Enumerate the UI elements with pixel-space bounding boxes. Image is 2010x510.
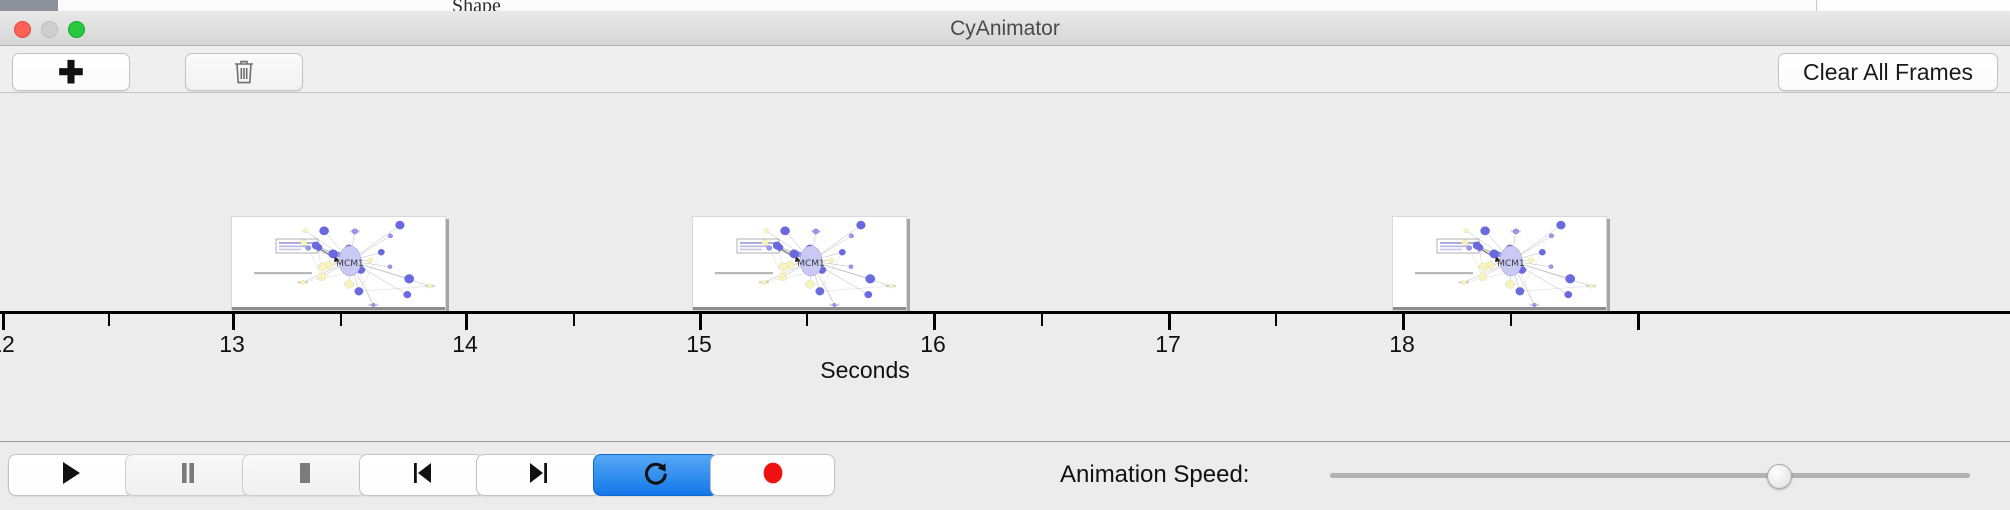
cyanimator-window: Shape CyAnimator ✚ <box>0 0 2010 510</box>
title-bar: CyAnimator <box>0 11 2010 46</box>
ruler-tick <box>1041 314 1043 326</box>
play-icon <box>58 459 84 492</box>
clear-all-frames-button[interactable]: Clear All Frames <box>1778 53 1998 91</box>
timeline-panel: MCM1MCM1MCM1 12131415161718 Seconds <box>0 93 2010 415</box>
add-frame-button[interactable]: ✚ <box>12 53 130 91</box>
animation-speed-slider-thumb[interactable] <box>1767 464 1792 489</box>
loop-button[interactable] <box>593 454 718 496</box>
ruler-tick-label: 14 <box>452 331 478 358</box>
ruler-tick <box>699 314 702 330</box>
ruler-tick <box>465 314 468 330</box>
animation-speed-label: Animation Speed: <box>1060 454 1249 496</box>
ruler-tick <box>1510 314 1512 326</box>
frames-area: MCM1MCM1MCM1 <box>0 93 2010 311</box>
svg-text:MCM1: MCM1 <box>1497 259 1525 269</box>
skip-to-start-button[interactable] <box>359 454 484 496</box>
frame-thumbnail-2[interactable]: MCM1 <box>692 216 907 311</box>
skip-to-end-button[interactable] <box>476 454 601 496</box>
toolbar: ✚ Clear All Frames <box>0 46 2010 93</box>
ruler-tick <box>1637 314 1640 330</box>
ruler-tick-label: 16 <box>920 331 946 358</box>
transport-bar: Animation Speed: <box>0 441 2010 510</box>
ruler-tick-label: 18 <box>1389 331 1415 358</box>
loop-icon <box>642 459 670 492</box>
ruler-tick <box>1168 314 1171 330</box>
ruler-tick-label: 17 <box>1155 331 1181 358</box>
play-button[interactable] <box>8 454 133 496</box>
delete-frame-button[interactable] <box>185 53 303 91</box>
frame-thumbnail-1[interactable]: MCM1 <box>231 216 446 311</box>
ruler-tick <box>933 314 936 330</box>
skip-start-icon <box>409 459 435 492</box>
svg-text:MCM1: MCM1 <box>336 259 364 269</box>
ruler-tick <box>232 314 235 330</box>
stop-button[interactable] <box>242 454 367 496</box>
ruler-tick <box>108 314 110 326</box>
pause-icon <box>175 459 201 492</box>
pause-button[interactable] <box>125 454 250 496</box>
ruler-tick <box>1275 314 1277 326</box>
ruler-baseline <box>0 311 2010 314</box>
svg-text:MCM1: MCM1 <box>797 259 825 269</box>
ruler-tick-label: 15 <box>686 331 712 358</box>
window-title: CyAnimator <box>0 11 2010 46</box>
record-icon <box>759 459 787 492</box>
plus-icon: ✚ <box>58 57 84 88</box>
trash-icon <box>233 59 255 85</box>
frame-thumbnail-3[interactable]: MCM1 <box>1392 216 1607 311</box>
animation-speed-slider[interactable] <box>1330 473 1970 478</box>
ruler-tick <box>340 314 342 326</box>
stop-icon <box>292 459 318 492</box>
ruler-tick <box>2 314 5 330</box>
ruler-tick-label: 12 <box>0 331 15 358</box>
ruler-tick <box>573 314 575 326</box>
record-button[interactable] <box>710 454 835 496</box>
axis-title: Seconds <box>0 357 2010 384</box>
ruler-tick-label: 13 <box>219 331 245 358</box>
ruler-tick <box>806 314 808 326</box>
ruler-tick <box>1402 314 1405 330</box>
skip-end-icon <box>526 459 552 492</box>
